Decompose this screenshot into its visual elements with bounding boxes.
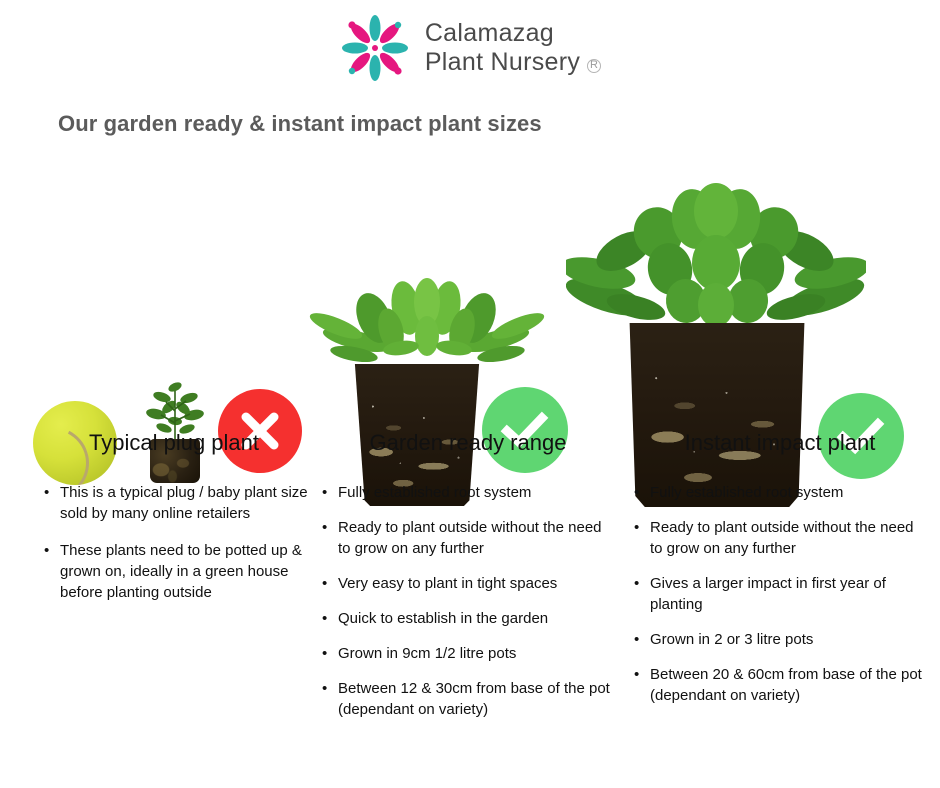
feature-list: This is a typical plug / baby plant size… — [40, 482, 308, 603]
list-item: Grown in 2 or 3 litre pots — [630, 629, 930, 650]
brand-name-line1: Calamazag — [425, 19, 601, 48]
feature-list: Fully established root system Ready to p… — [318, 482, 618, 720]
feature-list: Fully established root system Ready to p… — [630, 482, 930, 706]
flower-starburst-icon — [339, 14, 411, 82]
list-item: Fully established root system — [318, 482, 618, 503]
column-garden-ready-range: Garden ready range Fully established roo… — [318, 430, 618, 734]
column-instant-impact-plant: Instant impact plant Fully established r… — [630, 430, 930, 720]
list-item: These plants need to be potted up & grow… — [40, 540, 308, 603]
column-title: Typical plug plant — [40, 430, 308, 456]
column-title: Instant impact plant — [630, 430, 930, 456]
list-item: Between 20 & 60cm from base of the pot (… — [630, 664, 930, 706]
plant-size-comparison-visuals — [0, 85, 940, 425]
list-item: This is a typical plug / baby plant size… — [40, 482, 308, 524]
brand-name-line2: Plant Nursery — [425, 48, 580, 77]
brand-logo: Calamazag Plant Nursery R — [0, 14, 940, 82]
registered-trademark-icon: R — [587, 59, 601, 73]
column-title: Garden ready range — [318, 430, 618, 456]
list-item: Ready to plant outside without the need … — [318, 517, 618, 559]
column-typical-plug-plant: Typical plug plant This is a typical plu… — [40, 430, 308, 619]
list-item: Fully established root system — [630, 482, 930, 503]
list-item: Gives a larger impact in first year of p… — [630, 573, 930, 615]
list-item: Between 12 & 30cm from base of the pot (… — [318, 678, 618, 720]
list-item: Very easy to plant in tight spaces — [318, 573, 618, 594]
list-item: Ready to plant outside without the need … — [630, 517, 930, 559]
list-item: Quick to establish in the garden — [318, 608, 618, 629]
list-item: Grown in 9cm 1/2 litre pots — [318, 643, 618, 664]
